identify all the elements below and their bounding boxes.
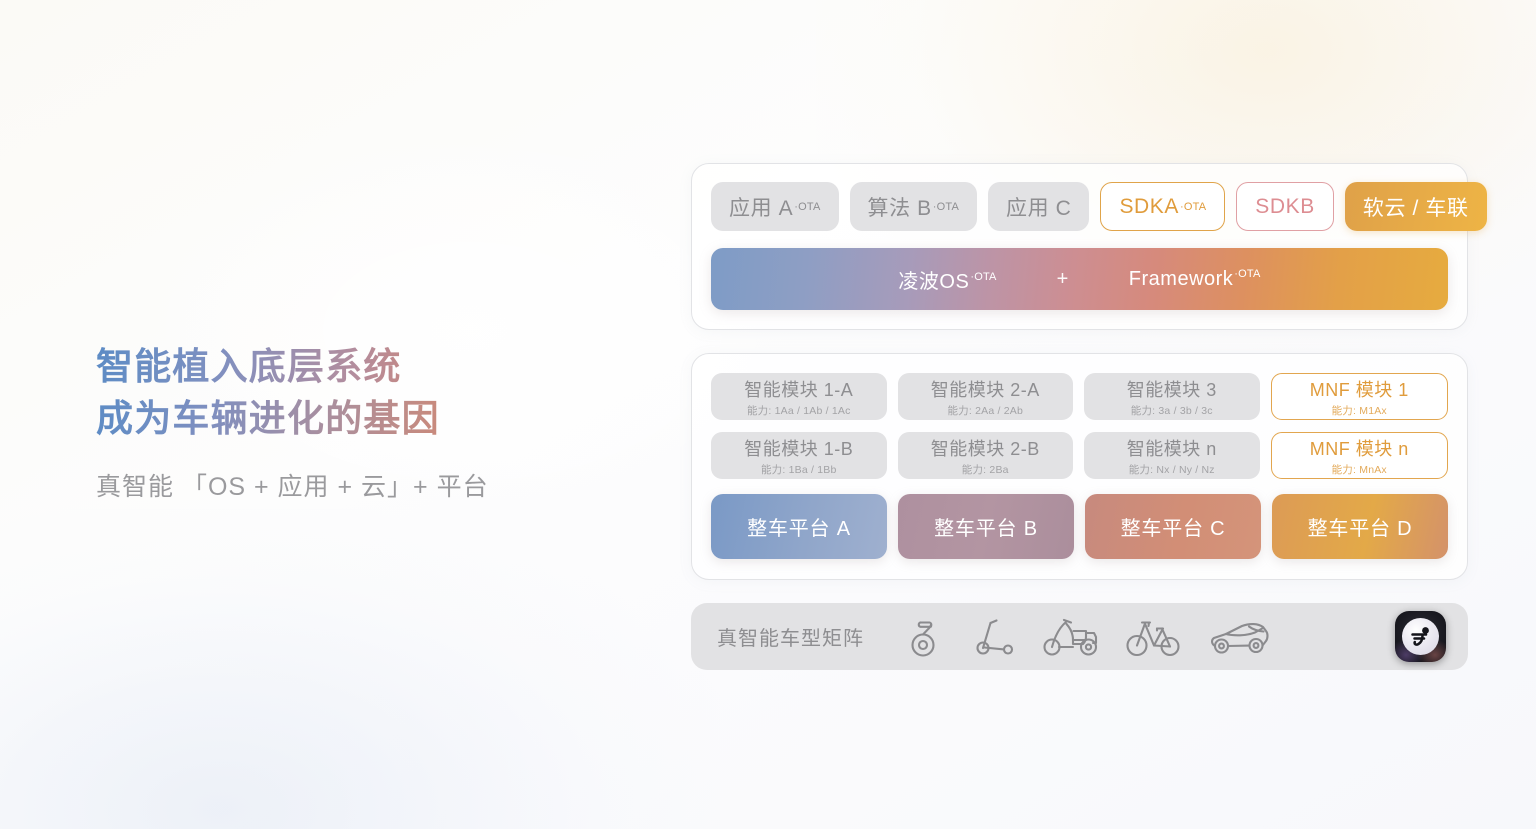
vehicle-matrix-label: 真智能车型矩阵: [717, 622, 864, 651]
module-smart-1a-sub: 能力: 1Aa / 1Ab / 1Ac: [747, 403, 851, 418]
pill-algo-b-ota: ·OTA: [933, 201, 959, 213]
module-smart-3-title: 智能模块 3: [1127, 376, 1217, 402]
module-smart-2b-title: 智能模块 2-B: [931, 435, 1040, 461]
module-row-2: 智能模块 1-B 能力: 1Ba / 1Bb 智能模块 2-B 能力: 2Ba …: [711, 432, 1448, 479]
platform-b[interactable]: 整车平台 B: [898, 494, 1074, 559]
platform-a[interactable]: 整车平台 A: [711, 494, 887, 559]
bicycle-icon: [1126, 616, 1182, 658]
moped-icon: [1042, 616, 1100, 658]
module-smart-1b[interactable]: 智能模块 1-B 能力: 1Ba / 1Bb: [711, 432, 887, 479]
module-smart-1b-sub: 能力: 1Ba / 1Bb: [761, 462, 837, 477]
os-bar-framework-label: Framework·OTA: [1129, 268, 1261, 291]
background-cool-glow: [0, 509, 720, 829]
os-bar-os-ota: ·OTA: [970, 271, 996, 283]
module-smart-n-title: 智能模块 n: [1127, 435, 1217, 461]
module-smart-n-sub: 能力: Nx / Ny / Nz: [1129, 462, 1215, 477]
os-bar-os-text: 凌波OS: [898, 271, 969, 293]
module-smart-3-sub: 能力: 3a / 3b / 3c: [1131, 403, 1213, 418]
module-mnf-n-title: MNF 模块 n: [1310, 435, 1409, 461]
module-smart-1b-title: 智能模块 1-B: [744, 435, 853, 461]
os-bar-separator: +: [1057, 268, 1069, 291]
kick-scooter-icon: [972, 616, 1016, 658]
os-bar-os-label: 凌波OS·OTA: [898, 265, 996, 294]
pill-app-a-ota: ·OTA: [794, 201, 820, 213]
os-layer-card: 应用 A·OTA 算法 B·OTA 应用 C SDKA·OTA SDKB 软云 …: [691, 163, 1468, 330]
module-smart-1a-title: 智能模块 1-A: [744, 376, 853, 402]
module-mnf-1[interactable]: MNF 模块 1 能力: M1Ax: [1271, 373, 1449, 420]
module-row-1: 智能模块 1-A 能力: 1Aa / 1Ab / 1Ac 智能模块 2-A 能力…: [711, 373, 1448, 420]
pill-app-a[interactable]: 应用 A·OTA: [711, 182, 839, 231]
headline-block: 智能植入底层系统 成为车辆进化的基因 真智能 「OS + 应用 + 云」+ 平台: [96, 341, 616, 503]
headline-subtitle: 真智能 「OS + 应用 + 云」+ 平台: [96, 467, 616, 503]
platform-c[interactable]: 整车平台 C: [1085, 494, 1261, 559]
rider-logo-icon: [1402, 618, 1439, 655]
pill-algo-b[interactable]: 算法 B·OTA: [850, 182, 978, 231]
pill-sdkb[interactable]: SDKB: [1236, 182, 1334, 231]
module-smart-2a-sub: 能力: 2Aa / 2Ab: [947, 403, 1023, 418]
module-smart-3[interactable]: 智能模块 3 能力: 3a / 3b / 3c: [1084, 373, 1260, 420]
module-mnf-1-title: MNF 模块 1: [1310, 376, 1409, 402]
modules-platforms-card: 智能模块 1-A 能力: 1Aa / 1Ab / 1Ac 智能模块 2-A 能力…: [691, 353, 1468, 580]
platform-d[interactable]: 整车平台 D: [1272, 494, 1448, 559]
pill-algo-b-label: 算法 B: [868, 192, 932, 222]
app-pill-row: 应用 A·OTA 算法 B·OTA 应用 C SDKA·OTA SDKB 软云 …: [711, 182, 1448, 231]
headline-line-2: 成为车辆进化的基因: [96, 393, 616, 445]
headline-line-1: 智能植入底层系统: [96, 341, 616, 393]
pill-sdka-ota: ·OTA: [1180, 201, 1206, 213]
module-smart-n[interactable]: 智能模块 n 能力: Nx / Ny / Nz: [1084, 432, 1260, 479]
pill-app-c-label: 应用 C: [1006, 192, 1071, 222]
brand-app-tile[interactable]: [1395, 611, 1446, 662]
module-smart-2a-title: 智能模块 2-A: [931, 376, 1040, 402]
module-mnf-n-sub: 能力: MnAx: [1332, 462, 1387, 477]
pill-cloud-connectivity[interactable]: 软云 / 车联: [1345, 182, 1487, 231]
os-bar-framework-text: Framework: [1129, 268, 1234, 290]
pill-cloud-connectivity-label: 软云 / 车联: [1363, 192, 1469, 222]
slide-canvas: 智能植入底层系统 成为车辆进化的基因 真智能 「OS + 应用 + 云」+ 平台…: [0, 0, 1536, 829]
vehicle-icon-group: [906, 616, 1270, 658]
module-mnf-1-sub: 能力: M1Ax: [1332, 403, 1387, 418]
os-framework-bar: 凌波OS·OTA + Framework·OTA: [711, 248, 1448, 310]
module-smart-2b[interactable]: 智能模块 2-B 能力: 2Ba: [898, 432, 1074, 479]
architecture-diagram: 应用 A·OTA 算法 B·OTA 应用 C SDKA·OTA SDKB 软云 …: [691, 163, 1468, 670]
pill-app-c[interactable]: 应用 C: [988, 182, 1089, 231]
sports-car-icon: [1208, 617, 1270, 657]
module-smart-2b-sub: 能力: 2Ba: [962, 462, 1009, 477]
module-smart-1a[interactable]: 智能模块 1-A 能力: 1Aa / 1Ab / 1Ac: [711, 373, 887, 420]
platform-row: 整车平台 A 整车平台 B 整车平台 C 整车平台 D: [711, 494, 1448, 559]
pill-sdka-label: SDKA: [1119, 195, 1179, 219]
vehicle-matrix-bar: 真智能车型矩阵: [691, 603, 1468, 670]
os-bar-framework-ota: ·OTA: [1234, 268, 1260, 280]
pill-sdka[interactable]: SDKA·OTA: [1100, 182, 1225, 231]
pill-app-a-label: 应用 A: [729, 192, 793, 222]
unicycle-icon: [906, 616, 946, 658]
module-smart-2a[interactable]: 智能模块 2-A 能力: 2Aa / 2Ab: [898, 373, 1074, 420]
pill-sdkb-label: SDKB: [1255, 195, 1315, 219]
module-mnf-n[interactable]: MNF 模块 n 能力: MnAx: [1271, 432, 1449, 479]
